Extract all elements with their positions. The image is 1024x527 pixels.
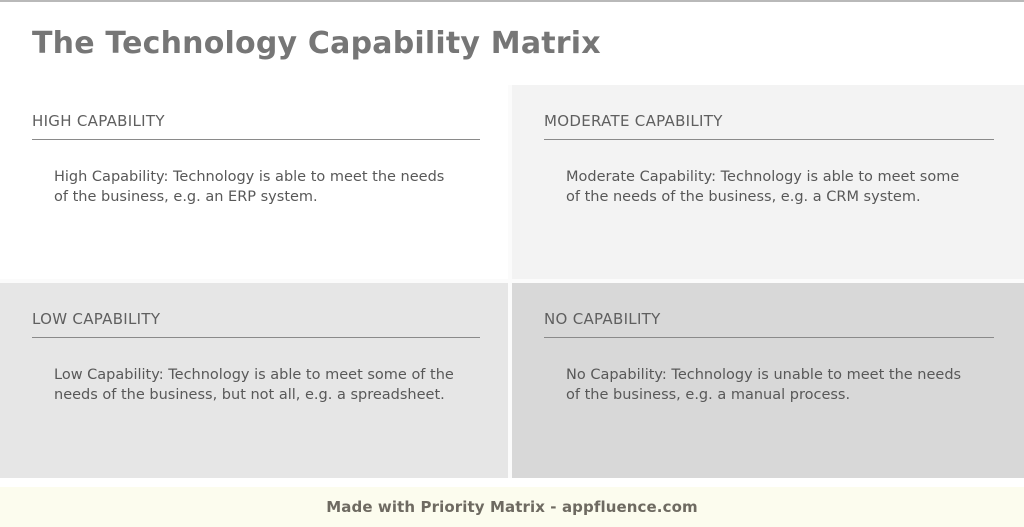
page-title: The Technology Capability Matrix <box>32 27 601 61</box>
capability-matrix-grid: HIGH CAPABILITY High Capability: Technol… <box>0 85 1024 478</box>
matrix-page: The Technology Capability Matrix HIGH CA… <box>0 0 1024 527</box>
quadrant-title-high-capability: HIGH CAPABILITY <box>32 112 476 130</box>
quadrant-divider-rule-none <box>544 337 994 338</box>
quadrant-low-capability[interactable]: LOW CAPABILITY Low Capability: Technolog… <box>0 283 508 478</box>
quadrant-high-capability[interactable]: HIGH CAPABILITY High Capability: Technol… <box>0 85 508 279</box>
quadrant-divider-rule-moderate <box>544 139 994 140</box>
quadrant-title-moderate-capability: MODERATE CAPABILITY <box>544 112 992 130</box>
footer-attribution-link[interactable]: Made with Priority Matrix - appfluence.c… <box>326 498 698 516</box>
quadrant-title-low-capability: LOW CAPABILITY <box>32 310 476 328</box>
footer-band: Made with Priority Matrix - appfluence.c… <box>0 487 1024 527</box>
quadrant-body-low-capability: Low Capability: Technology is able to me… <box>54 366 462 405</box>
quadrant-divider-rule-high <box>32 139 480 140</box>
quadrant-body-no-capability: No Capability: Technology is unable to m… <box>566 366 970 405</box>
quadrant-title-no-capability: NO CAPABILITY <box>544 310 992 328</box>
quadrant-no-capability[interactable]: NO CAPABILITY No Capability: Technology … <box>512 283 1024 478</box>
quadrant-moderate-capability[interactable]: MODERATE CAPABILITY Moderate Capability:… <box>512 85 1024 279</box>
page-header: The Technology Capability Matrix <box>0 2 1024 85</box>
quadrant-body-high-capability: High Capability: Technology is able to m… <box>54 168 462 207</box>
footer-spacer <box>0 478 1024 487</box>
quadrant-divider-rule-low <box>32 337 480 338</box>
quadrant-body-moderate-capability: Moderate Capability: Technology is able … <box>566 168 970 207</box>
